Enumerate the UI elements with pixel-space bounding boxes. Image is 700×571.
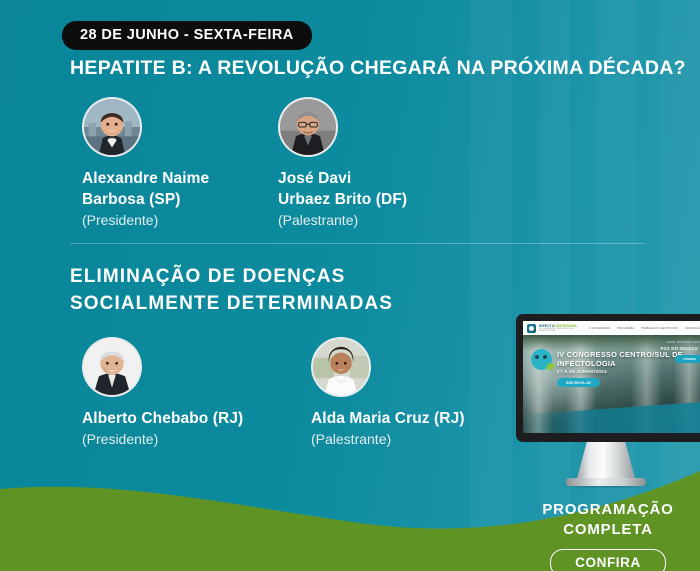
monitor-mockup: INFECTOCENTRO/SUL IV CONGRESSO CENTRO/SU… — [516, 314, 700, 442]
website-navbar: INFECTOCENTRO/SUL IV CONGRESSO CENTRO/SU… — [523, 321, 700, 335]
section-divider — [70, 243, 645, 244]
avatar — [311, 337, 371, 397]
speaker-role: (Palestrante) — [278, 211, 407, 230]
confira-button[interactable]: CONFIRA — [550, 549, 666, 571]
nav-item[interactable]: O CONGRESSO — [589, 327, 611, 330]
cta-line-1: PROGRAMAÇÃO — [516, 500, 700, 520]
speaker-role: (Palestrante) — [311, 430, 465, 449]
hero-register-button[interactable]: INSCREVA-SE — [557, 378, 600, 387]
avatar — [82, 337, 142, 397]
venue-city: FOZ DO IGUAÇU - PR — [661, 346, 700, 351]
avatar-photo-alda — [313, 339, 369, 395]
website-hero: IV CONGRESSO CENTRO/SUL DE INFECTOLOGIA … — [523, 335, 700, 433]
speaker-card: José Davi Urbaez Brito (DF) (Palestrante… — [278, 97, 407, 230]
speaker-name: Alda Maria Cruz (RJ) — [311, 408, 465, 429]
monitor-screen: INFECTOCENTRO/SUL IV CONGRESSO CENTRO/SU… — [523, 321, 700, 433]
cta-line-2: COMPLETA — [516, 520, 700, 540]
section-title-1: HEPATITE B: A REVOLUÇÃO CHEGARÁ NA PRÓXI… — [70, 57, 686, 80]
nav-item[interactable]: PROGRAMA — [617, 327, 634, 330]
section-title-2: ELIMINAÇÃO DE DOENÇAS SOCIALMENTE DETERM… — [70, 263, 490, 317]
hero-title: IV CONGRESSO CENTRO/SUL DE INFECTOLOGIA — [557, 350, 687, 368]
speaker-role: (Presidente) — [82, 211, 209, 230]
promo-banner: 28 DE JUNHO - SEXTA-FEIRA HEPATITE B: A … — [0, 0, 700, 571]
site-logo-icon — [527, 324, 536, 333]
avatar-photo-jose — [280, 99, 336, 155]
nav-item[interactable]: INSCRIÇÃO — [685, 327, 700, 330]
speaker-card: Alexandre Naime Barbosa (SP) (Presidente… — [82, 97, 209, 230]
monitor-stand-base — [566, 478, 646, 486]
avatar-photo-alexandre — [84, 99, 140, 155]
nav-item[interactable]: TRABALHOS CIENTÍFICOS — [641, 327, 678, 330]
avatar — [82, 97, 142, 157]
speaker-card: Alda Maria Cruz (RJ) (Palestrante) — [311, 337, 465, 449]
hero-date: 27 A 29 JUNHO/2024 — [557, 369, 607, 374]
speaker-card: Alberto Chebabo (RJ) (Presidente) — [82, 337, 243, 449]
cta-block: PROGRAMAÇÃO COMPLETA CONFIRA — [516, 500, 700, 571]
speaker-name: Alberto Chebabo (RJ) — [82, 408, 243, 429]
venue-name: HOTEL BOURBON CATARATAS — [667, 341, 700, 344]
site-logo-text: INFECTOCENTRO/SUL IV CONGRESSO CENTRO/SU… — [539, 324, 578, 332]
avatar — [278, 97, 338, 157]
website-nav-items: O CONGRESSO PROGRAMA TRABALHOS CIENTÍFIC… — [589, 327, 700, 330]
venue-confira-button[interactable]: CONFIRA — [675, 355, 700, 363]
speaker-name: José Davi Urbaez Brito (DF) — [278, 168, 407, 210]
date-badge: 28 DE JUNHO - SEXTA-FEIRA — [62, 21, 312, 50]
speaker-role: (Presidente) — [82, 430, 243, 449]
speaker-name: Alexandre Naime Barbosa (SP) — [82, 168, 209, 210]
avatar-photo-alberto — [84, 339, 140, 395]
site-logo-subtitle: IV CONGRESSO CENTRO/SUL DE INFECTOLOGIA — [539, 328, 578, 332]
